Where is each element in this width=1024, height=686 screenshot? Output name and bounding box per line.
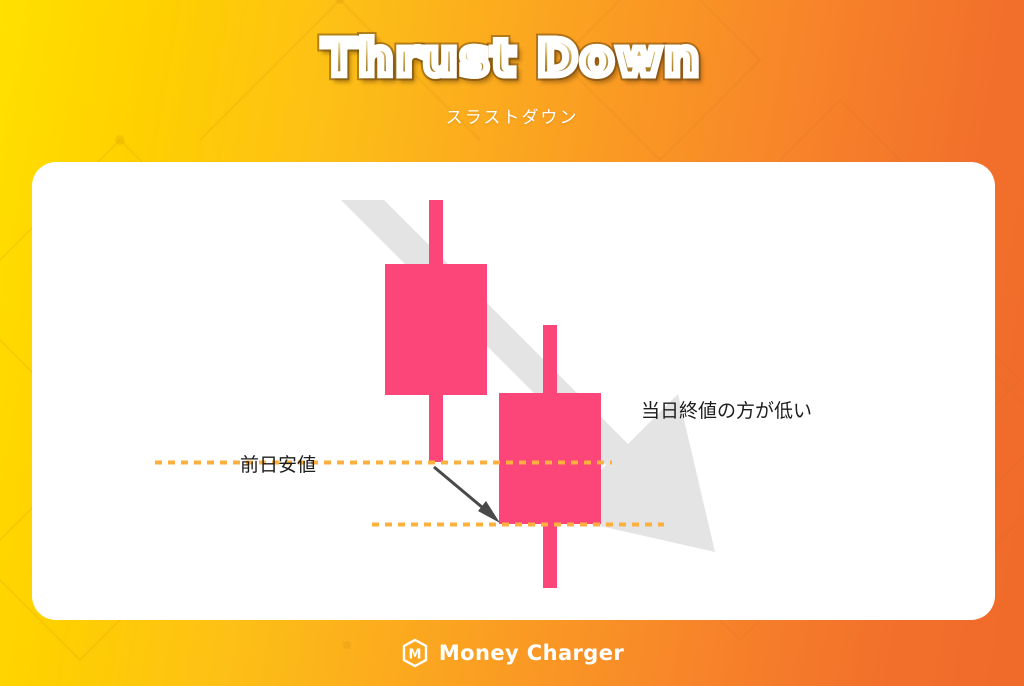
page-subtitle: スラストダウン bbox=[446, 103, 579, 128]
money-charger-hexagon-logo-icon: M bbox=[400, 638, 430, 668]
infographic-canvas: Thrust Down Thrust Down スラストダウン bbox=[0, 0, 1024, 686]
chart-card: 前日安値 当日終値の方が低い bbox=[32, 162, 995, 620]
annotation-previous-low-label: 前日安値 bbox=[240, 450, 316, 477]
candle-current-day-body bbox=[499, 393, 601, 524]
candle-previous-day-body bbox=[385, 264, 487, 395]
footer-brand: M Money Charger bbox=[0, 620, 1024, 686]
header: Thrust Down Thrust Down スラストダウン bbox=[0, 0, 1024, 160]
logo-letter: M bbox=[408, 648, 421, 663]
brand-name: Money Charger bbox=[439, 641, 624, 665]
pointer-arrow-icon bbox=[434, 467, 500, 523]
candlestick-chart bbox=[32, 162, 995, 620]
annotation-close-lower-label: 当日終値の方が低い bbox=[641, 396, 812, 423]
page-title: Thrust Down bbox=[323, 34, 702, 83]
